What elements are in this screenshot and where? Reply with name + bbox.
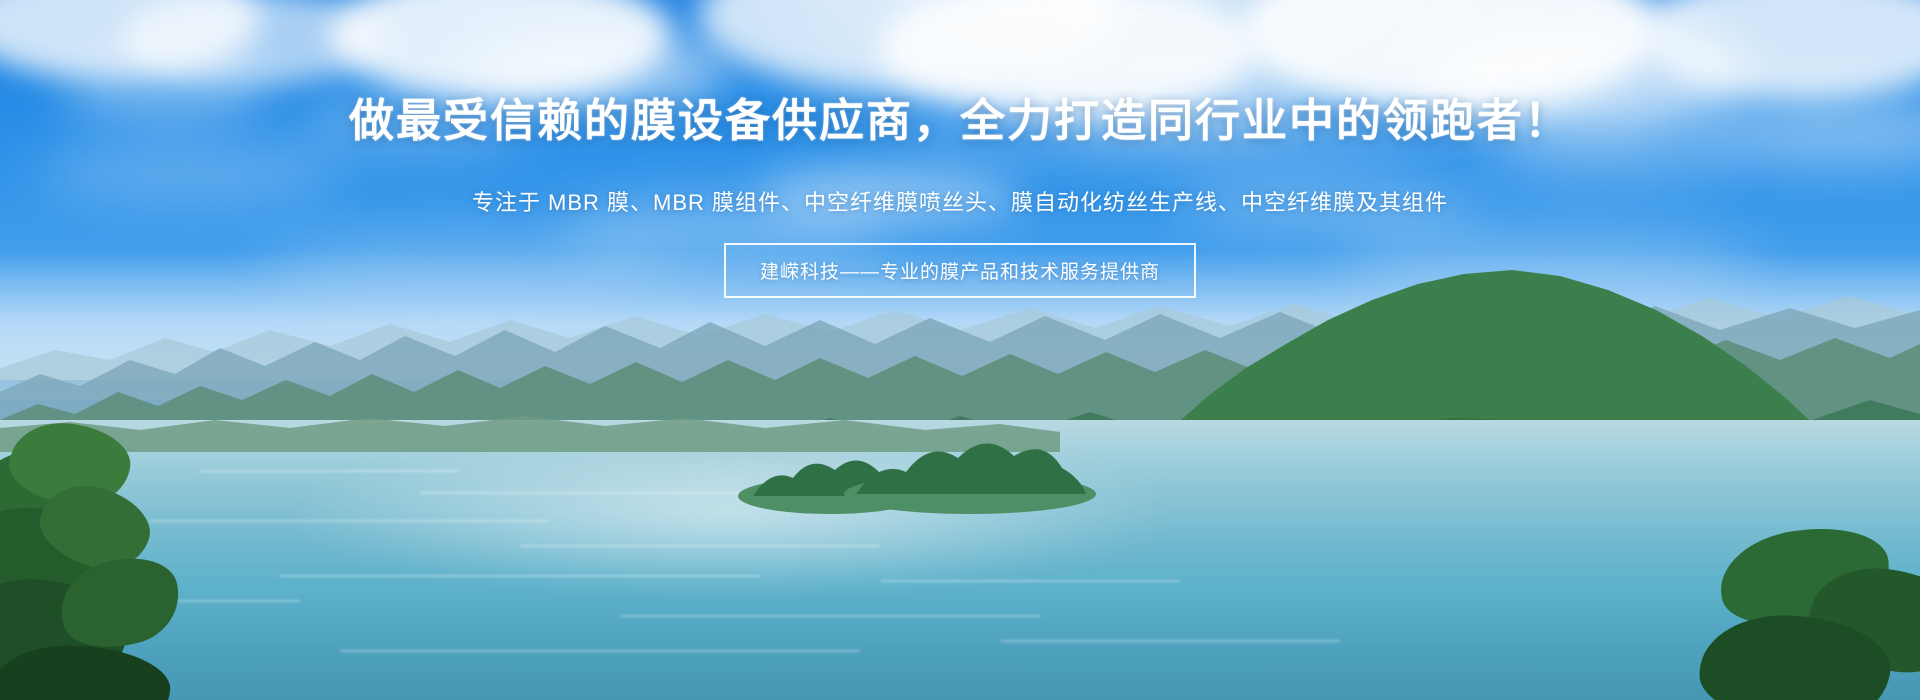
hero-banner: 做最受信赖的膜设备供应商，全力打造同行业中的领跑者！ 专注于 MBR 膜、MBR… bbox=[0, 0, 1920, 700]
ripple bbox=[620, 615, 1040, 617]
banner-subheadline: 专注于 MBR 膜、MBR 膜组件、中空纤维膜喷丝头、膜自动化纺丝生产线、中空纤… bbox=[0, 188, 1920, 219]
ripple bbox=[340, 650, 860, 652]
island-large bbox=[840, 420, 1100, 516]
ripple bbox=[1000, 640, 1340, 642]
ripple bbox=[420, 492, 740, 494]
ripple bbox=[280, 575, 760, 577]
banner-headline: 做最受信赖的膜设备供应商，全力打造同行业中的领跑者！ bbox=[0, 96, 1920, 146]
tagline-box[interactable]: 建嵘科技——专业的膜产品和技术服务提供商 bbox=[724, 243, 1196, 298]
ripple bbox=[520, 545, 880, 547]
foreground-foliage bbox=[0, 430, 220, 700]
ripple bbox=[880, 580, 1180, 582]
tagline-container: 建嵘科技——专业的膜产品和技术服务提供商 bbox=[0, 243, 1920, 298]
ripple bbox=[200, 470, 460, 472]
foreground-foliage-right bbox=[1700, 520, 1920, 700]
